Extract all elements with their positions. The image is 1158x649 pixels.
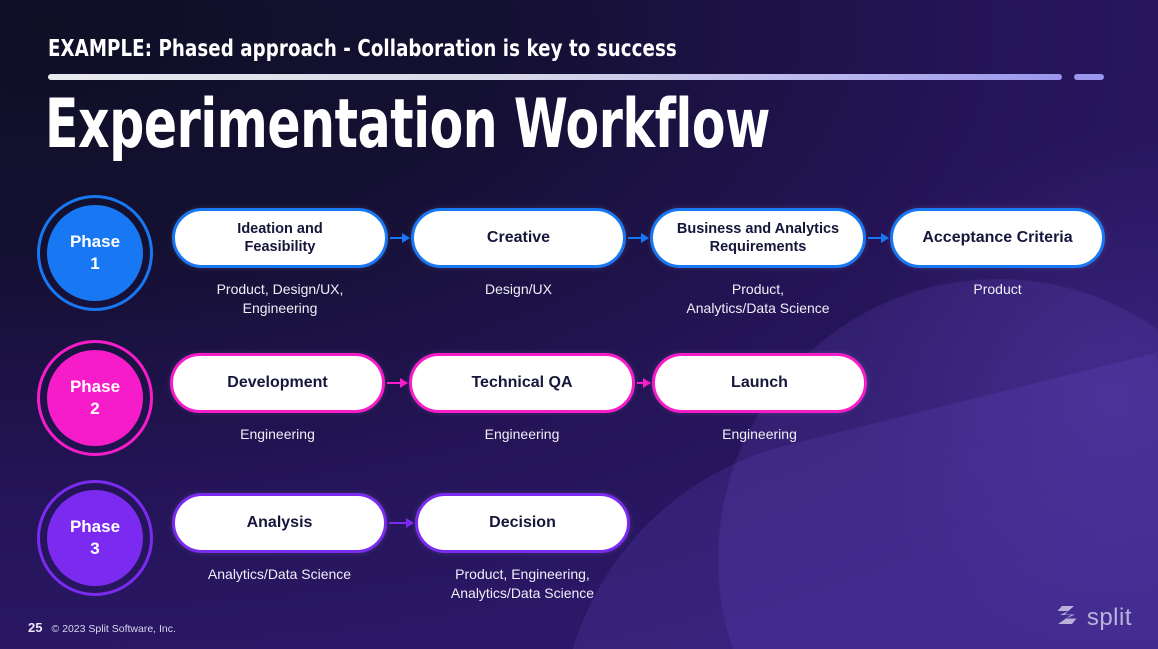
flow-arrow bbox=[868, 233, 889, 243]
step-label: Analysis bbox=[247, 513, 313, 533]
phase-number: 1 bbox=[90, 253, 99, 275]
step-label: Ideation and Feasibility bbox=[237, 220, 322, 256]
arrow-head-icon bbox=[402, 233, 410, 243]
page-number: 25 bbox=[28, 620, 42, 635]
step-label: Business and Analytics Requirements bbox=[677, 220, 839, 256]
step-pill[interactable]: Creative bbox=[411, 208, 626, 268]
flow-arrow bbox=[637, 378, 651, 388]
step-pill[interactable]: Decision bbox=[415, 493, 630, 553]
copyright-text: © 2023 Split Software, Inc. bbox=[51, 623, 175, 635]
step-caption: Product, Engineering, Analytics/Data Sci… bbox=[375, 565, 670, 603]
step-pill[interactable]: Launch bbox=[652, 353, 867, 413]
arrow-head-icon bbox=[881, 233, 889, 243]
page-title: Experimentation Workflow bbox=[45, 88, 770, 162]
step-caption: Engineering bbox=[612, 425, 907, 444]
step-label: Creative bbox=[487, 228, 550, 248]
step-pill[interactable]: Technical QA bbox=[409, 353, 635, 413]
split-logo-text: split bbox=[1087, 606, 1132, 630]
phase-number: 2 bbox=[90, 398, 99, 420]
footer: 25 © 2023 Split Software, Inc. bbox=[28, 620, 176, 635]
step-label: Launch bbox=[731, 373, 788, 393]
flow-arrow bbox=[628, 233, 649, 243]
split-logo: split bbox=[1054, 602, 1132, 633]
step-pill[interactable]: Analysis bbox=[172, 493, 387, 553]
step-label: Decision bbox=[489, 513, 556, 533]
arrow-head-icon bbox=[406, 518, 414, 528]
phase-circle-inner: Phase2 bbox=[47, 350, 143, 446]
slide-canvas: EXAMPLE: Phased approach - Collaboration… bbox=[0, 0, 1158, 649]
step-label: Acceptance Criteria bbox=[922, 228, 1072, 248]
step-caption: Product bbox=[850, 280, 1145, 299]
phase-label: Phase bbox=[70, 376, 120, 398]
arrow-head-icon bbox=[400, 378, 408, 388]
arrow-shaft bbox=[628, 237, 641, 239]
header-divider-main bbox=[48, 74, 1062, 80]
header-divider bbox=[48, 74, 1104, 80]
flow-arrow bbox=[390, 233, 410, 243]
flow-arrow bbox=[387, 378, 408, 388]
split-chevron-icon bbox=[1054, 602, 1080, 633]
step-pill[interactable]: Development bbox=[170, 353, 385, 413]
step-pill[interactable]: Ideation and Feasibility bbox=[172, 208, 388, 268]
phase-label: Phase bbox=[70, 231, 120, 253]
phase-circle-inner: Phase3 bbox=[47, 490, 143, 586]
phase-number: 3 bbox=[90, 538, 99, 560]
phase-circle-inner: Phase1 bbox=[47, 205, 143, 301]
step-label: Technical QA bbox=[471, 373, 572, 393]
arrow-head-icon bbox=[641, 233, 649, 243]
arrow-shaft bbox=[389, 522, 406, 524]
step-label: Development bbox=[227, 373, 327, 393]
phase-label: Phase bbox=[70, 516, 120, 538]
step-pill[interactable]: Business and Analytics Requirements bbox=[650, 208, 866, 268]
arrow-shaft bbox=[868, 237, 881, 239]
step-pill[interactable]: Acceptance Criteria bbox=[890, 208, 1105, 268]
decorative-blob bbox=[718, 279, 1158, 649]
slide-eyebrow: EXAMPLE: Phased approach - Collaboration… bbox=[48, 36, 677, 62]
arrow-shaft bbox=[387, 382, 400, 384]
flow-arrow bbox=[389, 518, 414, 528]
arrow-head-icon bbox=[643, 378, 651, 388]
header-divider-dash bbox=[1074, 74, 1104, 80]
arrow-shaft bbox=[390, 237, 402, 239]
